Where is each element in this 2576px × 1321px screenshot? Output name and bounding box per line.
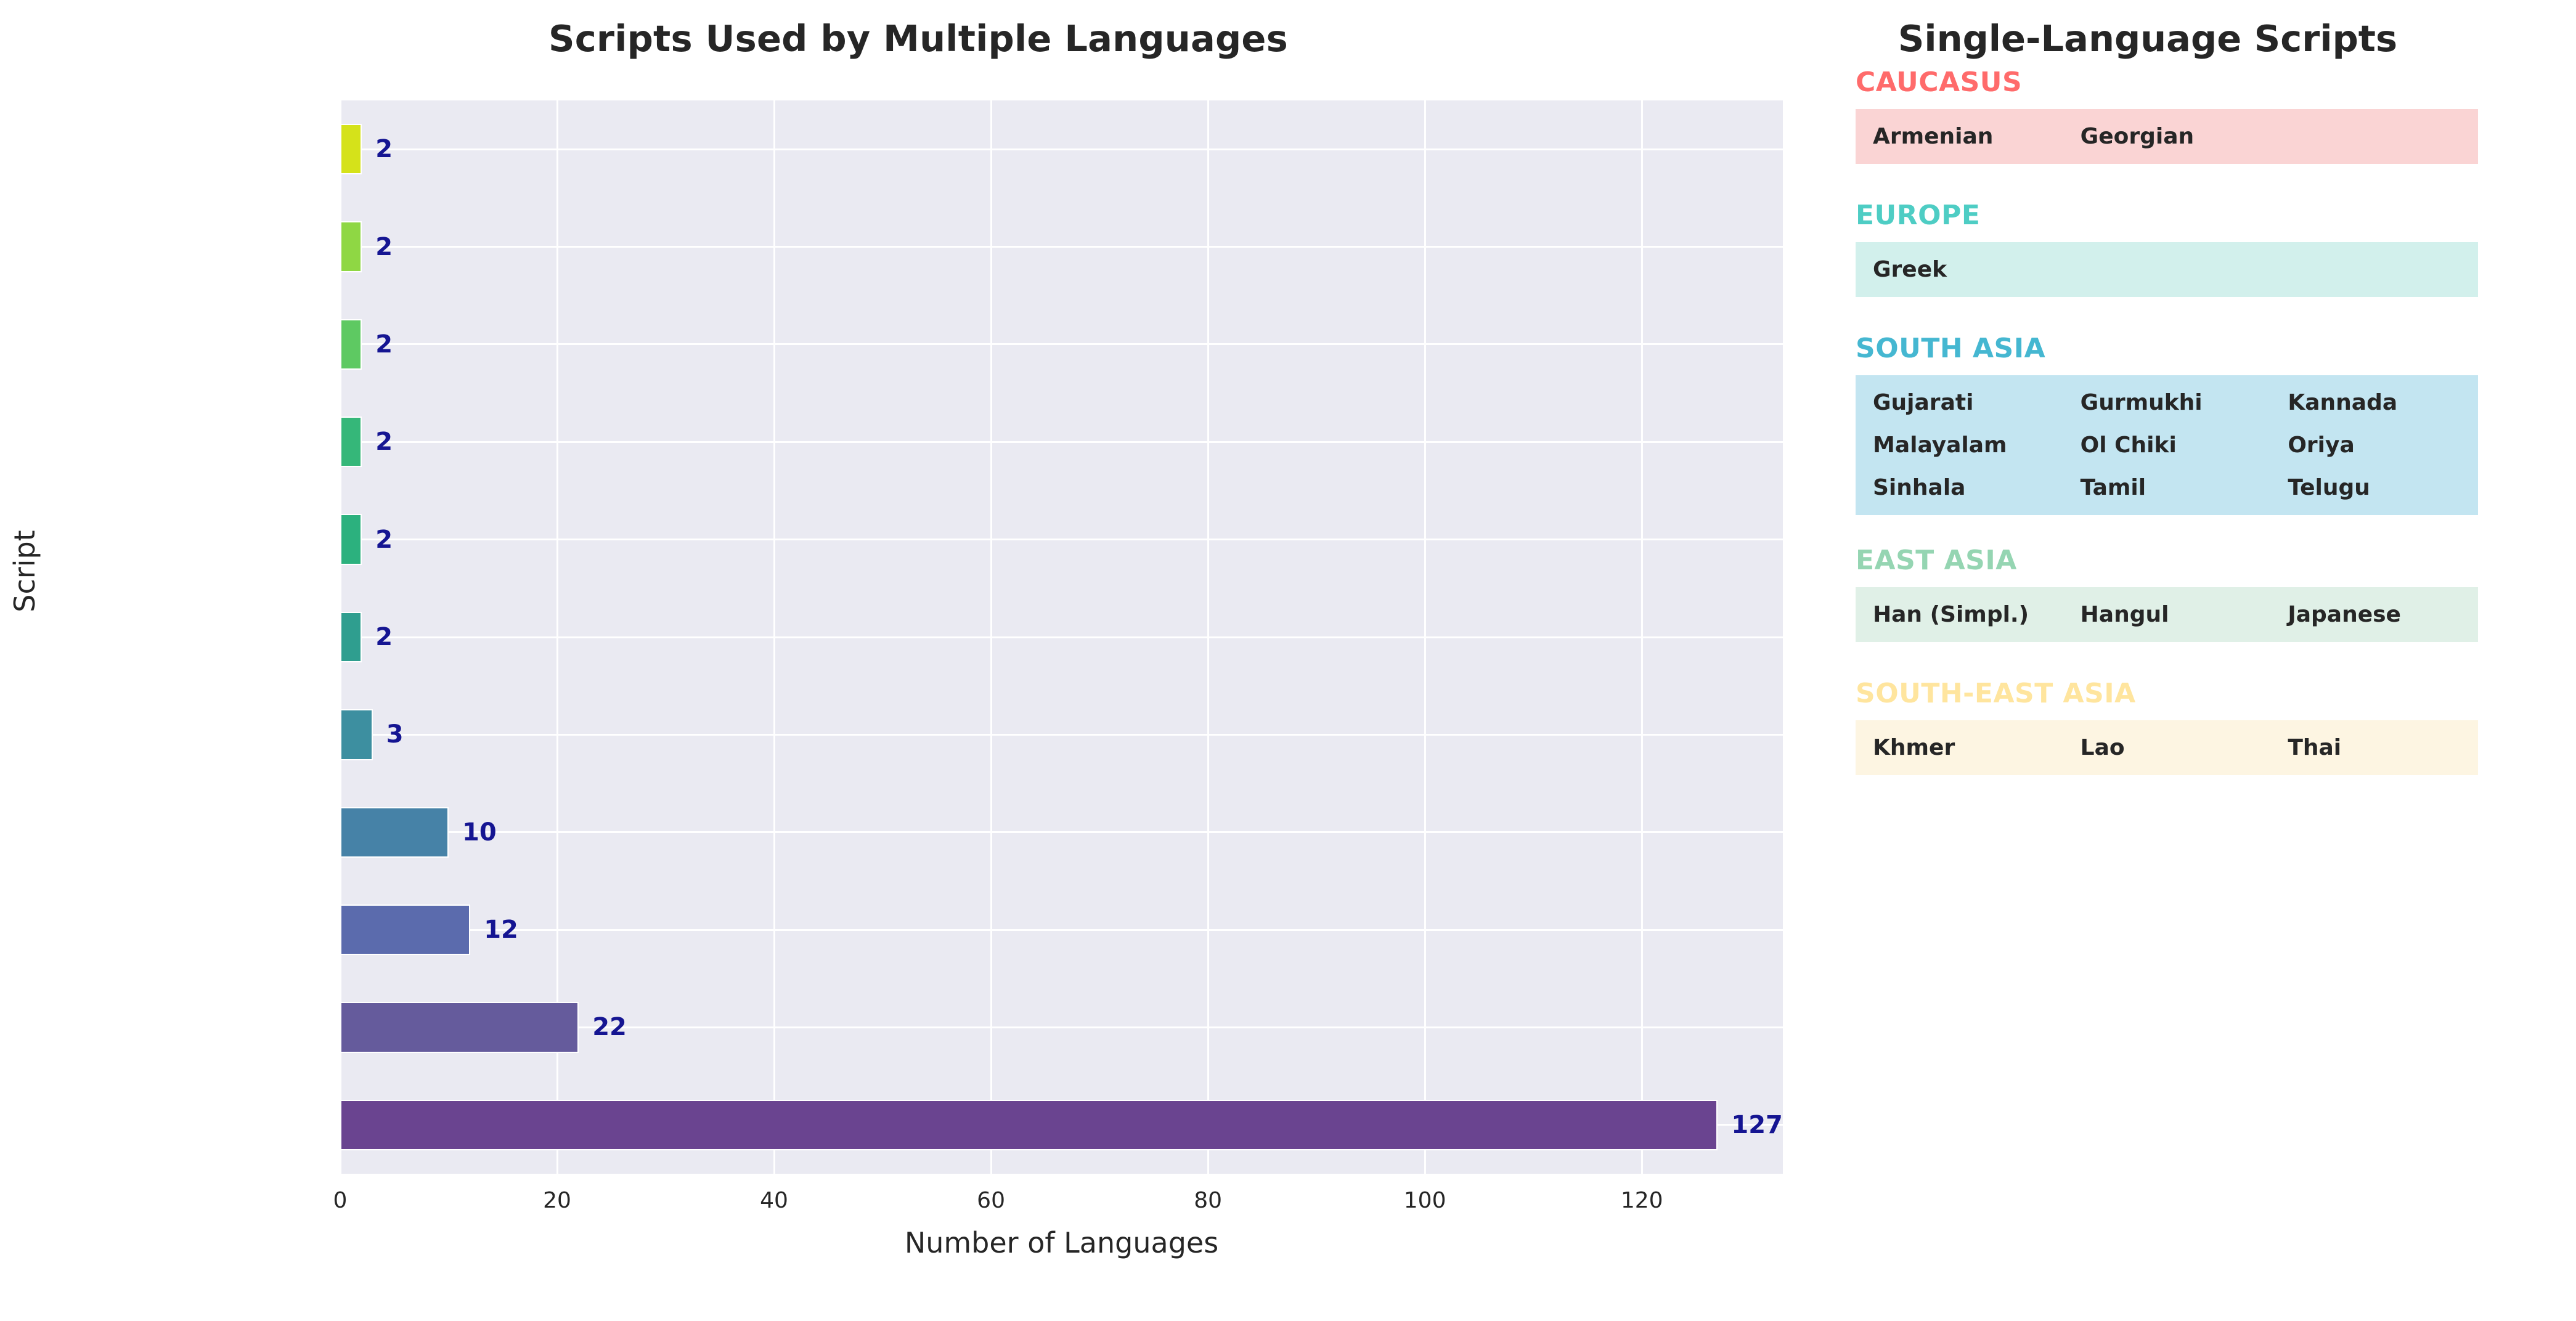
script-name[interactable]: Lao [2063,726,2271,769]
region-block: SOUTH ASIAGujaratiGurmukhiKannadaMalayal… [1856,333,2478,515]
script-name[interactable]: Georgian [2063,115,2271,158]
region-block: EAST ASIAHan (Simpl.)HangulJapanese [1856,545,2478,642]
region-script-grid: GujaratiGurmukhiKannadaMalayalamOl Chiki… [1856,375,2478,515]
bar [340,417,362,467]
region-script-grid: KhmerLaoThai [1856,720,2478,775]
horizontal-gridline [340,343,1783,345]
x-axis-tick-label: 100 [1404,1188,1446,1213]
script-name[interactable]: Thai [2270,726,2478,769]
bar-value-label: 12 [484,916,518,944]
script-name[interactable]: Japanese [2270,593,2478,636]
region-block: SOUTH-EAST ASIAKhmerLaoThai [1856,678,2478,775]
bar [340,514,362,564]
bar [340,319,362,370]
x-axis-tick-label: 80 [1194,1188,1222,1213]
bar [340,1002,579,1052]
bar-value-label: 22 [592,1013,627,1041]
script-name[interactable]: Sinhala [1856,466,2063,509]
bar-value-label: 2 [375,330,393,359]
bar [340,221,362,272]
x-axis-tick-label: 120 [1621,1188,1663,1213]
script-name[interactable]: Ol Chiki [2063,424,2271,466]
region-script-grid: Greek [1856,242,2478,297]
script-name[interactable]: Kannada [2270,381,2478,424]
region-script-grid: ArmenianGeorgian [1856,109,2478,164]
bar-value-label: 2 [375,135,393,163]
x-axis-tick-label: 20 [543,1188,571,1213]
x-axis-tick-label: 40 [760,1188,788,1213]
bar-value-label: 3 [386,720,404,749]
script-name[interactable]: Telugu [2270,466,2478,509]
region-block: EUROPEGreek [1856,200,2478,297]
horizontal-gridline [340,831,1783,833]
bar [340,709,373,760]
script-name[interactable]: Gurmukhi [2063,381,2271,424]
script-name[interactable]: Khmer [1856,726,2063,769]
region-header: EUROPE [1856,200,2478,231]
script-name[interactable]: Gujarati [1856,381,2063,424]
region-header: SOUTH-EAST ASIA [1856,678,2478,709]
bar-value-label: 2 [375,623,393,651]
script-name[interactable]: Han (Simpl.) [1856,593,2063,636]
x-axis-label: Number of Languages [340,1226,1783,1259]
x-axis-tick-label: 0 [333,1188,348,1213]
region-header: SOUTH ASIA [1856,333,2478,364]
region-header: CAUCASUS [1856,67,2478,98]
horizontal-gridline [340,929,1783,931]
side-panel-title: Single-Language Scripts [1836,17,2459,60]
plot-area [340,100,1783,1174]
bar [340,904,470,955]
bar-value-label: 10 [462,818,497,847]
script-name[interactable]: Malayalam [1856,424,2063,466]
bar [340,807,449,858]
horizontal-gridline [340,148,1783,150]
script-name-placeholder [2270,248,2478,291]
horizontal-gridline [340,441,1783,443]
bar-value-label: 2 [375,233,393,261]
script-name-placeholder [2270,115,2478,158]
horizontal-gridline [340,246,1783,248]
bar-value-label: 127 [1731,1111,1783,1139]
single-language-scripts-panel: Single-Language Scripts CAUCASUSArmenian… [1836,0,2576,1321]
region-block: CAUCASUSArmenianGeorgian [1856,67,2478,164]
script-name[interactable]: Tamil [2063,466,2271,509]
bar-chart-panel: Scripts Used by Multiple Languages Han (… [0,0,1836,1321]
horizontal-gridline [340,539,1783,540]
region-header: EAST ASIA [1856,545,2478,576]
horizontal-gridline [340,734,1783,736]
bar [340,124,362,174]
horizontal-gridline [340,636,1783,638]
script-name-placeholder [2063,248,2271,291]
y-axis-label: Script [8,510,41,633]
bar [340,612,362,662]
script-name[interactable]: Armenian [1856,115,2063,158]
script-name[interactable]: Hangul [2063,593,2271,636]
chart-title: Scripts Used by Multiple Languages [0,17,1836,60]
script-name[interactable]: Greek [1856,248,2063,291]
bar [340,1100,1718,1150]
x-axis-tick-label: 60 [977,1188,1005,1213]
bar-value-label: 2 [375,428,393,456]
bar-value-label: 2 [375,526,393,554]
region-script-grid: Han (Simpl.)HangulJapanese [1856,587,2478,642]
script-name[interactable]: Oriya [2270,424,2478,466]
